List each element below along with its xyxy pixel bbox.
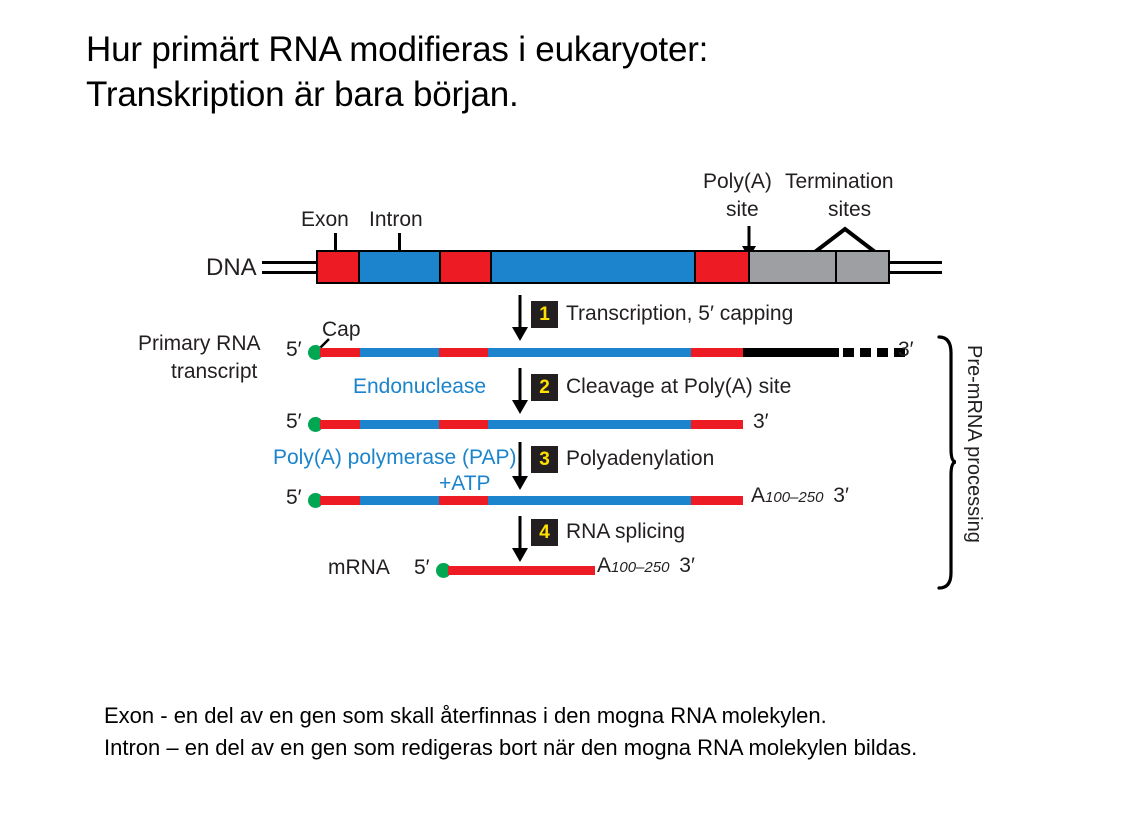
step-3-arrow [510,442,530,490]
endonuclease-label: Endonuclease [353,375,486,399]
caption-line-intron: Intron – en del av en gen som redigeras … [104,732,1094,764]
step-4-text: RNA splicing [566,520,685,544]
rna1-dashed-tail [843,348,905,357]
dna-segment-intron-1 [358,252,439,282]
termination-sites-label-line1: Termination [785,170,894,194]
step-3-text: Polyadenylation [566,447,714,471]
mrna-exons-joined [448,566,595,575]
step-2-text: Cleavage at Poly(A) site [566,375,791,399]
transcript-3prime-label: 3′ [898,338,914,362]
polyA-rna-5prime-label: 5′ [286,486,302,510]
polyA-tail-subscript: 100–250 [765,489,823,506]
rna-processing-diagram: Exon Intron Poly(A) site Termination sit… [0,150,1140,630]
polyA-tail-annotation: A100–250 3′ [751,484,849,508]
dna-segment-exon-2 [439,252,490,282]
dash-1 [843,348,854,357]
atp-label: +ATP [439,472,491,496]
step-2-number: 2 [531,374,558,401]
mature-mrna-strand [448,566,595,575]
transcript-5prime-label: 5′ [286,338,302,362]
dna-right-lead [886,261,942,274]
mrna-3prime-label: 3′ [679,554,695,577]
pap-label: Poly(A) polymerase (PAP) [273,446,517,470]
polya-site-label-line1: Poly(A) [703,170,772,194]
mrna-5prime-label: 5′ [414,556,430,580]
rna2-exon-1 [320,420,360,429]
step-1-number: 1 [531,301,558,328]
step-4-arrow [510,516,530,562]
page-title: Hur primärt RNA modifieras i eukaryoter:… [86,28,986,118]
polya-site-label-line2: site [726,198,759,222]
dna-segment-downstream-2 [835,252,888,282]
rna1-intron-1 [360,348,439,357]
dna-segment-downstream-1 [748,252,835,282]
polyadenylated-rna-strand [320,496,743,505]
rna1-exon-2 [439,348,488,357]
dna-segment-exon-3 [694,252,748,282]
dash-2 [860,348,871,357]
title-line-2: Transkription är bara början. [86,73,986,118]
primary-rna-label-line2: transcript [171,360,257,384]
mrna-polyA-annotation: A100–250 3′ [597,554,695,578]
dna-label: DNA [206,254,257,282]
slide: Hur primärt RNA modifieras i eukaryoter:… [0,0,1140,824]
rna3-exon-3 [691,496,743,505]
primary-rna-label-line1: Primary RNA [138,332,261,356]
rna3-exon-2 [439,496,488,505]
intron-label: Intron [369,208,423,232]
rna2-exon-3 [691,420,743,429]
exon-label: Exon [301,208,349,232]
cleaved-rna-5prime-label: 5′ [286,410,302,434]
rna1-exon-1 [320,348,360,357]
step-1-arrow [510,295,530,341]
dna-bar [316,250,890,284]
polyA-rna-3prime-label: 3′ [833,484,849,507]
title-line-1: Hur primärt RNA modifieras i eukaryoter: [86,28,986,73]
caption-line-exon: Exon - en del av en gen som skall återfi… [104,700,1094,732]
rna2-intron-2 [488,420,691,429]
pre-mrna-processing-brace [935,335,957,590]
rna2-exon-2 [439,420,488,429]
mrna-polyA-subscript: 100–250 [611,559,669,576]
step-3-number: 3 [531,446,558,473]
dna-segment-exon-1 [318,252,358,282]
rna1-readthrough-tail [743,348,839,357]
dna-left-lead [262,261,318,274]
dna-segment-intron-2 [490,252,695,282]
rna1-exon-3 [691,348,743,357]
rna3-exon-1 [320,496,360,505]
mrna-polyA-letter: A [597,554,611,577]
step-2-arrow [510,368,530,414]
primary-rna-strand [320,348,839,357]
rna2-intron-1 [360,420,439,429]
polyA-tail-letter: A [751,484,765,507]
cleaved-rna-3prime-label: 3′ [753,410,769,434]
dash-3 [877,348,888,357]
rna1-intron-2 [488,348,691,357]
step-4-number: 4 [531,519,558,546]
rna3-intron-2 [488,496,691,505]
termination-sites-label-line2: sites [828,198,871,222]
cleaved-rna-strand [320,420,743,429]
pre-mrna-processing-label: Pre-mRNA processing [962,345,985,543]
rna3-intron-1 [360,496,439,505]
caption-block: Exon - en del av en gen som skall återfi… [104,700,1094,764]
step-1-text: Transcription, 5′ capping [566,302,793,326]
mrna-label: mRNA [328,556,390,580]
